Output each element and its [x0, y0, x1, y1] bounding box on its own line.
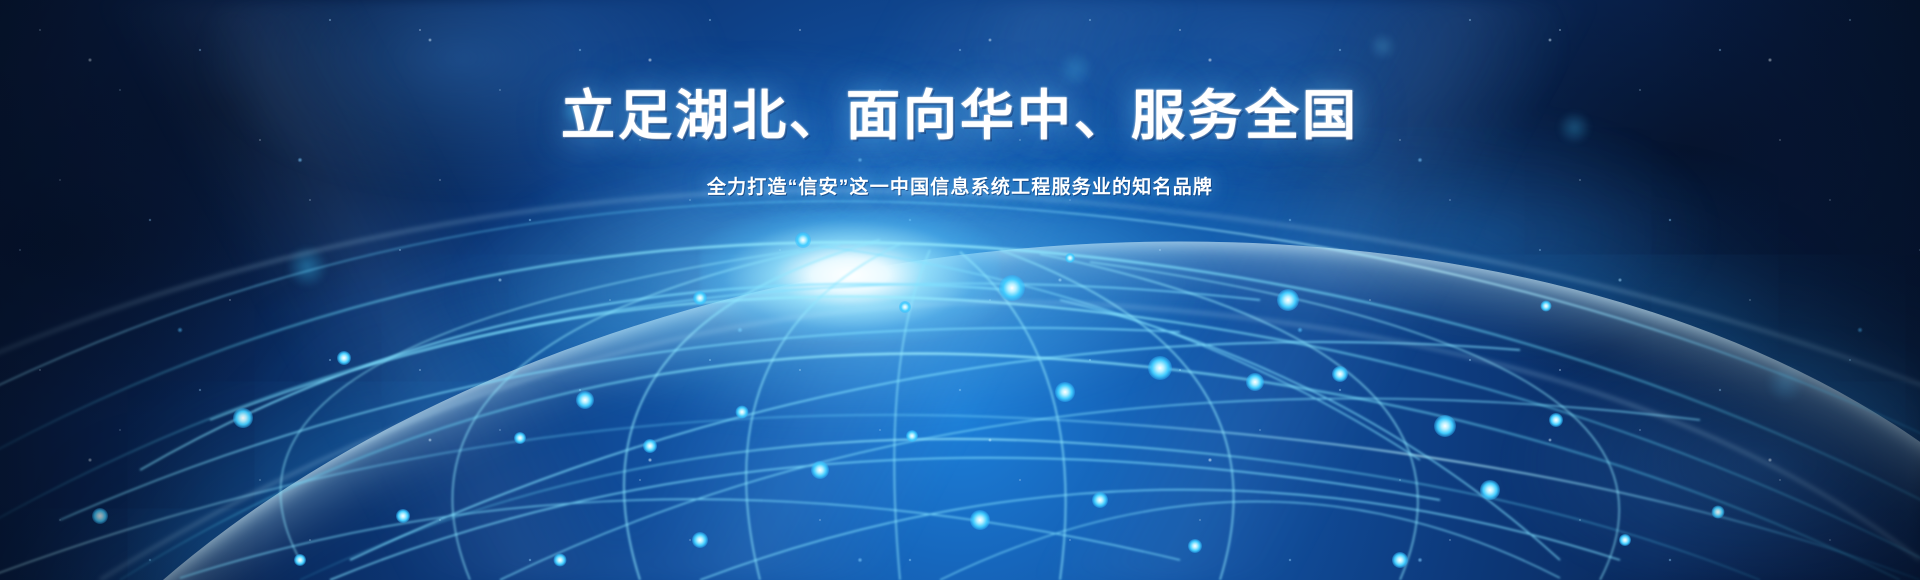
page-title: 立足湖北、面向华中、服务全国 [0, 86, 1920, 146]
page-subtitle: 全力打造“信安”这一中国信息系统工程服务业的知名品牌 [0, 172, 1920, 199]
hero-banner: 立足湖北、面向华中、服务全国 全力打造“信安”这一中国信息系统工程服务业的知名品… [0, 0, 1920, 580]
hero-copy: 立足湖北、面向华中、服务全国 全力打造“信安”这一中国信息系统工程服务业的知名品… [0, 86, 1920, 199]
